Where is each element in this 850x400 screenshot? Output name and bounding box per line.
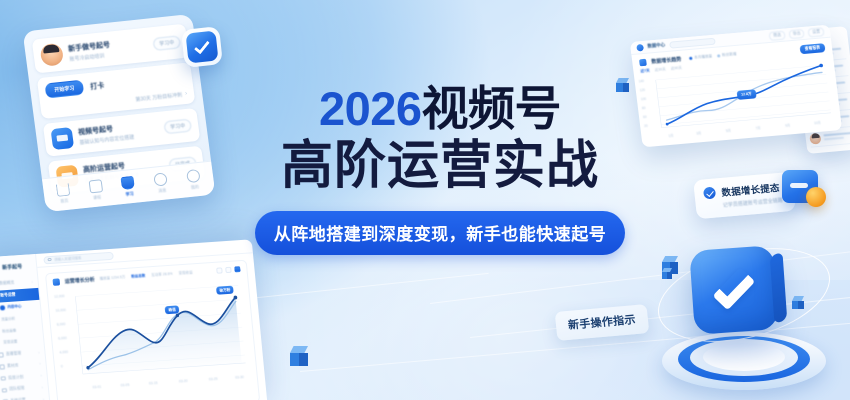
x-tick: 1月 [668, 133, 674, 138]
guide-badge-label: 新手操作指示 [567, 311, 636, 333]
promo-banner: 新手做号起号 账号冷启动培训 学习中 开始学习 打卡 第30天 万粉目标冲刺 ›… [0, 0, 850, 400]
x-tick: 5月 [726, 128, 732, 133]
app-icon-badge [181, 26, 223, 68]
nav-item-messages[interactable]: 消息 [153, 172, 169, 194]
chevron-right-icon: › [185, 90, 188, 96]
tab-7d[interactable]: 近7天 [640, 68, 650, 74]
chart-legend: 本月播放量 粉丝新增 [689, 52, 737, 61]
grid-icon [88, 179, 103, 193]
nav-label: 我的 [188, 184, 202, 191]
sidebar-item-label: 团队权限 [9, 386, 25, 392]
sidebar-item-label: 直播管理 [6, 351, 22, 357]
perspective-line [230, 273, 489, 301]
avatar [809, 132, 821, 144]
x-tick: 03-30 [235, 375, 244, 381]
accent-sphere [806, 187, 826, 207]
x-tick: 9月 [785, 122, 791, 127]
x-tick: 03-15 [149, 381, 158, 387]
x-tick: 7月 [755, 125, 761, 130]
toolbar-pill-export[interactable]: 导出 [788, 28, 805, 38]
x-tick: 03-20 [179, 379, 188, 385]
growth-line-chart: 140 120 100 80 60 20 1月 3月 5月 7月 9月 10月 … [641, 61, 833, 135]
search-placeholder: 请输入关键词搜索 [54, 255, 82, 262]
metric-tab-fans[interactable]: 粉丝总数 [131, 274, 145, 280]
growth-badge-title: 数据增长提态 [721, 180, 782, 199]
chevron-down-icon: › [38, 351, 39, 355]
chevron-down-icon: › [31, 280, 32, 284]
panel-title: 数据增长趋势 [651, 56, 682, 66]
share-icon[interactable] [225, 267, 232, 273]
chevron-down-icon: › [42, 386, 43, 390]
nav-item-courses[interactable]: 课程 [88, 179, 104, 201]
title-block: 2026视频号 高阶运营实战 从阵地搭建到深度变现，新手也能快速起号 [230, 84, 650, 255]
expand-icon[interactable] [234, 266, 241, 272]
guide-badge-card: 新手操作指示 [555, 304, 650, 341]
growth-area-chart: 12,000 10,000 8,000 6,000 4,000 0 03-01 … [54, 279, 250, 383]
toolbar-pill-filter[interactable]: 筛选 [769, 30, 786, 40]
nav-item-profile[interactable]: 我的 [186, 169, 202, 191]
team-icon [2, 388, 7, 393]
metric-tab-engagement[interactable]: 互动率 28.6% [151, 272, 173, 278]
growth-badge-subtitle: 记学员搭建账号运营全链路 [723, 197, 784, 209]
panel-title: 运营增长分析 [64, 276, 95, 285]
metric-tab-plays[interactable]: 播放量 1234.5万 [99, 275, 125, 282]
check-circle-icon [703, 187, 716, 200]
legend-label: 粉丝新增 [722, 52, 737, 58]
brand-name: 新手起号 [2, 262, 23, 270]
sidebar-item-label: 内容中心 [7, 304, 21, 310]
x-tick: 3月 [696, 130, 702, 135]
sidebar-item-label: 素材库 [7, 363, 19, 369]
floating-cube [290, 346, 308, 366]
sidebar-item-label: 投放计划 [8, 375, 24, 381]
nav-label: 课程 [90, 194, 104, 201]
nav-label: 首页 [58, 198, 72, 205]
sidebar-item-label: 账号运营 [0, 293, 16, 299]
sidebar-item-label: 流量分析 [1, 316, 15, 322]
checkin-label: 打卡 [90, 71, 186, 91]
nav-label: 消息 [155, 187, 169, 194]
home-icon [56, 183, 71, 197]
chart-svg [54, 279, 250, 383]
download-icon[interactable] [216, 267, 223, 273]
sidebar-item-label: 变现设置 [3, 340, 17, 346]
chart-icon [52, 278, 60, 285]
profile-chip[interactable]: 学习中 [152, 35, 181, 51]
title-year: 2026 [319, 82, 422, 135]
sidebar-item-label: 数据概览 [0, 281, 15, 287]
toolbar-pill-settings[interactable]: 设置 [808, 27, 825, 37]
legend-label: 本月播放量 [694, 54, 713, 61]
analytics-panel: 运营增长分析 播放量 1234.5万 粉丝总数 互动率 28.6% 变现收益 [45, 260, 260, 400]
circle-icon [153, 172, 168, 186]
check-icon [712, 267, 755, 310]
avatar [39, 43, 64, 67]
x-tick: 10月 [814, 120, 821, 126]
tab-30d[interactable]: 近30天 [654, 67, 666, 73]
x-tick: 03-25 [209, 377, 218, 383]
title-product: 视频号 [422, 82, 562, 135]
chevron-down-icon: › [40, 374, 41, 378]
list-item-chip[interactable]: 学习中 [163, 119, 192, 135]
chart-icon [639, 59, 647, 67]
video-icon [0, 353, 3, 358]
chart-tooltip: 12.8万 [737, 89, 757, 100]
subtitle-pill: 从阵地搭建到深度变现，新手也能快速起号 [255, 211, 626, 255]
folder-icon [782, 170, 818, 203]
x-tick: 03-01 [92, 385, 101, 391]
nav-item-home[interactable]: 首页 [56, 183, 72, 205]
chart-tooltip-milestone: 破万粉 [216, 286, 235, 295]
start-learning-button[interactable]: 开始学习 [45, 80, 85, 99]
person-icon [186, 169, 201, 183]
metric-tab-revenue[interactable]: 变现收益 [178, 270, 192, 276]
shield-icon [121, 176, 136, 190]
x-tick: 03-05 [120, 383, 129, 389]
chevron-down-icon: › [39, 362, 40, 366]
check-tile [689, 245, 779, 335]
nav-item-learning[interactable]: 学习 [121, 176, 137, 198]
search-input[interactable]: 请输入关键词搜索 [43, 251, 114, 264]
search-input[interactable] [669, 37, 716, 48]
tab-90d[interactable]: 近90天 [671, 66, 683, 72]
dashboard-mockup-top: 数据中心 筛选 导出 设置 数据增长趋势 本月播放量 粉丝新增 查看报表 近7天… [630, 25, 842, 148]
dot-icon [0, 305, 5, 310]
nav-label: 学习 [123, 191, 137, 198]
search-icon [47, 258, 51, 262]
page-title-line2: 高阶运营实战 [230, 137, 650, 195]
growth-badge-card: 数据增长提态 记学员搭建账号运营全链路 [693, 172, 796, 219]
hero-check-badge [648, 238, 840, 396]
check-icon [194, 38, 210, 55]
checkin-meta: 第30天 万粉目标冲刺 [135, 91, 183, 103]
dashboard-mockup-bottom: 新手起号 数据概览› 账号运营 内容中心 流量分析 粉丝画像 变现设置 直播管理… [0, 239, 268, 400]
sidebar-item-label: 粉丝画像 [2, 328, 16, 334]
chart-tooltip-peak: 峰值 [165, 305, 180, 314]
video-app-icon [51, 127, 75, 150]
logo-icon [636, 43, 644, 51]
target-icon [1, 376, 6, 381]
folder-icon [0, 364, 4, 369]
brand-name: 数据中心 [647, 42, 665, 49]
page-title-line1: 2026视频号 [230, 84, 650, 135]
